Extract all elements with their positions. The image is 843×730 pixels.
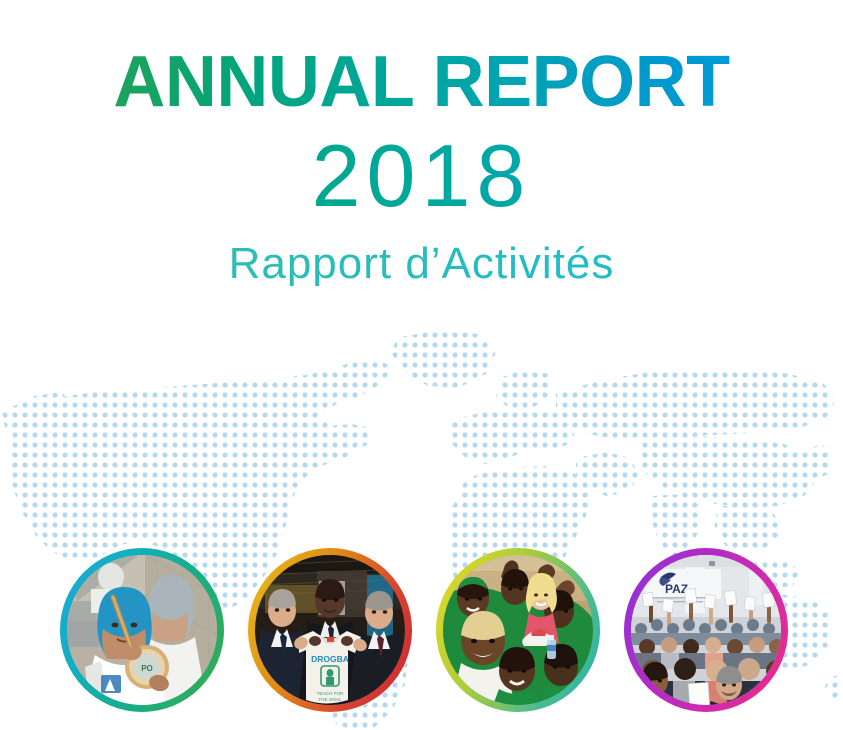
photo-1-image: PO — [67, 555, 217, 705]
photo-circle-2[interactable]: P A — [248, 548, 412, 712]
svg-text:TEACH FOR: TEACH FOR — [317, 691, 344, 696]
photo-circle-3[interactable] — [436, 548, 600, 712]
headline-block: ANNUAL REPORT 2018 Rapport d’Activités — [0, 0, 843, 286]
photo-strip: PO P — [0, 548, 843, 712]
jersey-text: DROGBA — [311, 654, 349, 664]
photo-circle-4[interactable]: PAZ — [624, 548, 788, 712]
annual-report-cover: ANNUAL REPORT 2018 Rapport d’Activités — [0, 0, 843, 730]
report-year: 2018 — [0, 132, 843, 220]
svg-text:THE GOAL: THE GOAL — [318, 697, 342, 702]
page-title: ANNUAL REPORT — [0, 46, 843, 118]
report-subtitle: Rapport d’Activités — [0, 242, 843, 286]
photo-circle-1[interactable]: PO — [60, 548, 224, 712]
svg-text:PO: PO — [141, 664, 153, 673]
photo-4-image: PAZ — [631, 555, 781, 705]
photo-2-image: P A — [255, 555, 405, 705]
photo-3-image — [443, 555, 593, 705]
